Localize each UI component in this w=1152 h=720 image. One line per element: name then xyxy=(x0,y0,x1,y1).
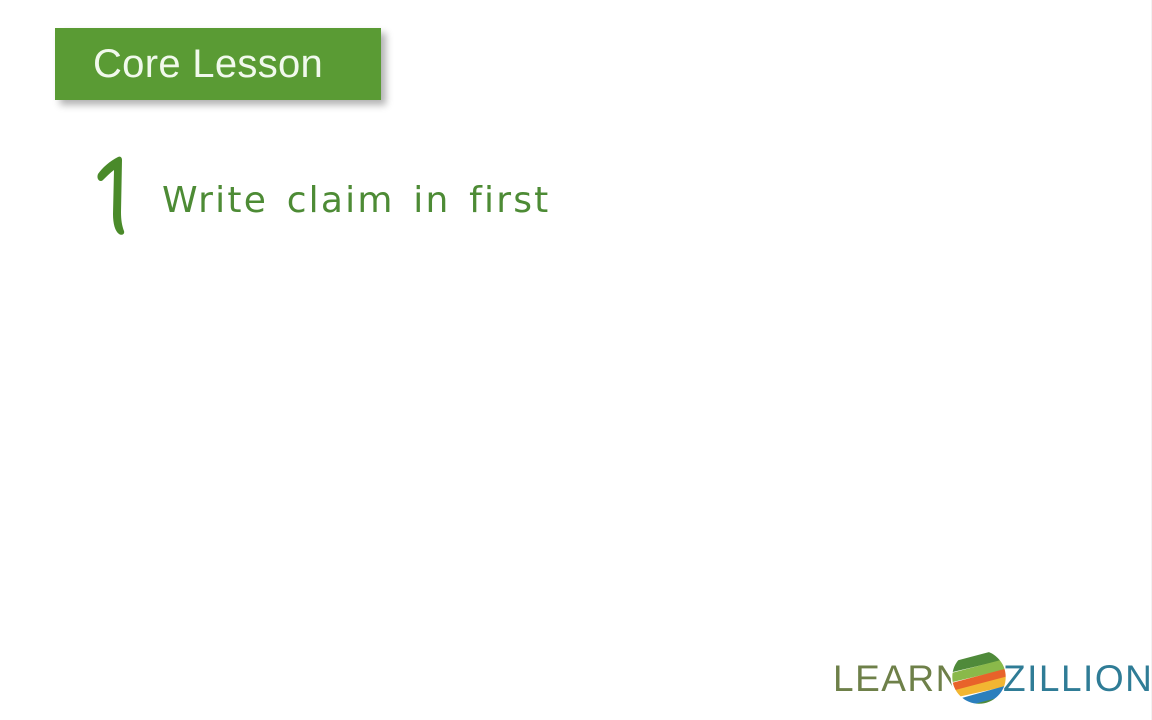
core-lesson-banner: Core Lesson xyxy=(55,28,381,100)
logo-word-zillion: ZILLION xyxy=(1003,660,1152,697)
logo-word-learn: LEARN xyxy=(833,660,964,697)
step-row: Write claim in first xyxy=(92,148,526,243)
core-lesson-banner-label: Core Lesson xyxy=(55,44,323,84)
slide-canvas: Core Lesson Write claim in first LEARN xyxy=(0,0,1152,720)
globe-icon xyxy=(950,648,1008,706)
learnzillion-logo: LEARN ZILLION xyxy=(833,648,1135,706)
step-text: Write claim in first xyxy=(162,180,550,221)
step-number-one-icon xyxy=(92,152,138,238)
